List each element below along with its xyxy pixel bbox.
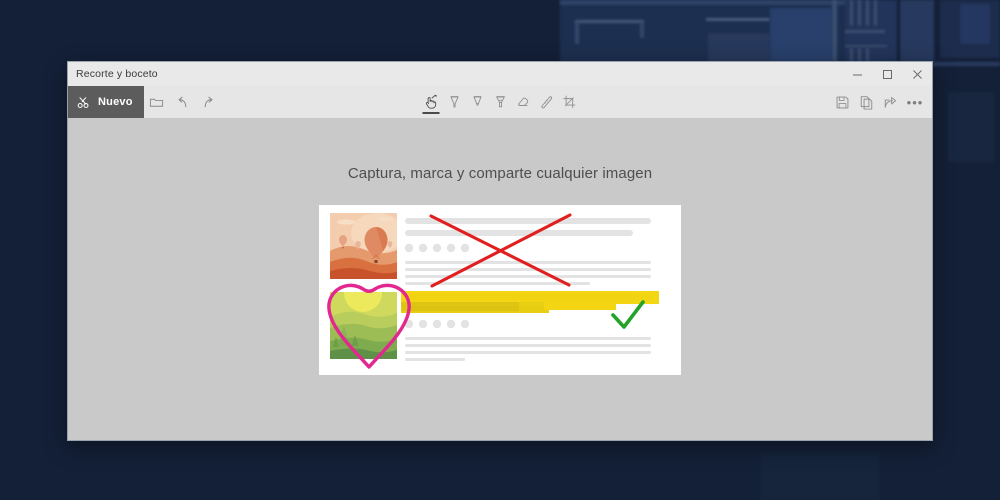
- wallpaper-ledge: [845, 30, 885, 33]
- share-icon: [883, 95, 898, 110]
- wallpaper-shape: [770, 8, 832, 62]
- snip-sketch-window: Recorte y boceto: [68, 62, 932, 440]
- wallpaper-window-bar: [850, 0, 853, 26]
- wallpaper-shape: [640, 20, 644, 38]
- ruler-icon: [538, 94, 554, 110]
- pencil-icon: [469, 94, 485, 110]
- crop-icon: [561, 94, 577, 110]
- close-button[interactable]: [902, 62, 932, 86]
- folder-icon: [149, 95, 164, 110]
- toolbar-right-group: •••: [830, 86, 932, 118]
- markup-illustration: [319, 205, 681, 375]
- snip-icon: [77, 95, 92, 110]
- maximize-icon: [882, 69, 893, 80]
- highlighter-icon: [492, 94, 508, 110]
- wallpaper-shape: [948, 92, 994, 162]
- more-options-button[interactable]: •••: [902, 86, 928, 124]
- page-title: Captura, marca y comparte cualquier imag…: [348, 165, 652, 182]
- main-toolbar: Nuevo: [68, 86, 932, 118]
- wallpaper-shape: [575, 20, 643, 23]
- redo-icon: [201, 95, 216, 110]
- wallpaper-shape: [960, 4, 990, 44]
- eraser-icon: [515, 94, 531, 110]
- save-button[interactable]: [830, 86, 854, 118]
- wallpaper-window-bar: [866, 0, 869, 26]
- content-area: Captura, marca y comparte cualquier imag…: [68, 118, 932, 440]
- minimize-icon: [852, 69, 863, 80]
- wallpaper-shape: [706, 18, 770, 21]
- redo-button[interactable]: [196, 86, 222, 118]
- tool-pencil[interactable]: [466, 86, 489, 118]
- ballpoint-pen-icon: [446, 94, 462, 110]
- undo-icon: [175, 95, 190, 110]
- new-snip-label: Nuevo: [98, 96, 133, 108]
- tool-crop[interactable]: [558, 86, 581, 118]
- new-snip-button[interactable]: Nuevo: [68, 86, 144, 118]
- wallpaper-shape: [560, 0, 860, 5]
- save-icon: [835, 95, 850, 110]
- wallpaper-shape: [760, 452, 880, 500]
- undo-button[interactable]: [170, 86, 196, 118]
- open-file-button[interactable]: [144, 86, 170, 118]
- wallpaper-shape: [575, 22, 579, 44]
- ink-tools-group: [420, 86, 581, 118]
- copy-button[interactable]: [854, 86, 878, 118]
- wallpaper-window-bar: [866, 48, 869, 62]
- tool-eraser[interactable]: [512, 86, 535, 118]
- wallpaper-window-bar: [858, 0, 861, 26]
- wallpaper-building: [900, 0, 934, 62]
- tool-ruler[interactable]: [535, 86, 558, 118]
- window-controls: [842, 62, 932, 86]
- tool-highlighter[interactable]: [489, 86, 512, 118]
- tool-ballpoint-pen[interactable]: [443, 86, 466, 118]
- balloon-desert-photo: [330, 213, 403, 279]
- minimize-button[interactable]: [842, 62, 872, 86]
- window-title: Recorte y boceto: [68, 68, 158, 80]
- tool-touch-writing[interactable]: [420, 86, 443, 118]
- wallpaper-window-bar: [874, 0, 877, 26]
- copy-icon: [859, 95, 874, 110]
- share-button[interactable]: [878, 86, 902, 118]
- wallpaper-ledge: [845, 45, 887, 47]
- illustration-wrapper: [319, 205, 681, 380]
- touch-writing-icon: [423, 94, 439, 110]
- maximize-button[interactable]: [872, 62, 902, 86]
- title-bar: Recorte y boceto: [68, 62, 932, 86]
- close-icon: [912, 69, 923, 80]
- wallpaper-window-bar: [850, 48, 853, 62]
- wallpaper-shape: [832, 0, 837, 62]
- wallpaper-window-bar: [858, 48, 861, 62]
- wallpaper-shape: [708, 33, 770, 62]
- toolbar-left-group: Nuevo: [68, 86, 222, 118]
